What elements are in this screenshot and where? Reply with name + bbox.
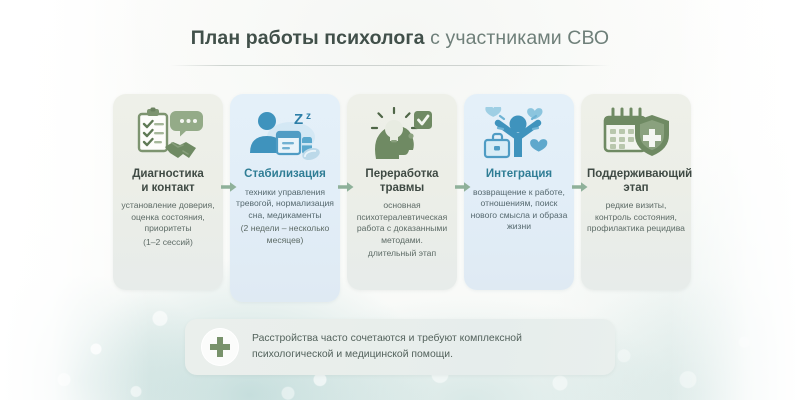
- stage-note: (2 недели – несколько месяцев): [234, 223, 336, 246]
- stage-description: техники управления тревогой, нормализаци…: [234, 187, 336, 222]
- page-title-light: с участниками СВО: [425, 27, 610, 49]
- stage-title: Переработка травмы: [351, 168, 453, 195]
- stage-card-stabilization[interactable]: Z z Стабилизация техники управления трев…: [230, 94, 340, 302]
- stages-row: Диагностика и контакт установление довер…: [113, 94, 689, 302]
- stage-title-line2: и контакт: [141, 182, 194, 194]
- stage-note: длительный этап: [351, 248, 453, 260]
- stage-note: (1–2 сессий): [117, 237, 219, 249]
- arrow-right-icon: [221, 180, 237, 192]
- arrow-right-icon: [455, 180, 471, 192]
- stage-description: основная психотералевтическая работа с д…: [351, 200, 453, 246]
- stage-title-line1: Диагностика: [132, 168, 204, 180]
- person-sleep-medication-icon: Z z: [234, 104, 336, 166]
- arrow-right-icon: [338, 180, 354, 192]
- stage-card-maintenance[interactable]: Поддерживающий этап редкие визиты, контр…: [581, 94, 691, 290]
- stage-description: возвращение к работе, отношениям, поиск …: [468, 187, 570, 233]
- footer-note-text: Расстройства часто сочетаются и требуют …: [252, 331, 522, 363]
- stage-title-line2: травмы: [380, 182, 424, 194]
- stage-title: Диагностика и контакт: [117, 168, 219, 195]
- calendar-shield-plus-icon: [585, 104, 687, 166]
- stage-description: редкие визиты, контроль состояния, профи…: [585, 200, 687, 235]
- stage-title: Поддерживающий этап: [585, 168, 687, 195]
- stage-title: Стабилизация: [234, 168, 336, 182]
- infographic-canvas: План работы психолога с участниками СВО: [0, 0, 800, 400]
- footer-note-banner: Расстройства часто сочетаются и требуют …: [185, 319, 615, 375]
- stage-description: установление доверия, оценка состояния, …: [117, 200, 219, 235]
- footer-note-line2: психологической и медицинской помощи.: [252, 347, 522, 363]
- stage-title-line1: Поддерживающий: [587, 168, 692, 180]
- stage-card-integration[interactable]: Интеграция возвращение к работе, отношен…: [464, 94, 574, 290]
- head-lightbulb-checkmark-icon: [351, 104, 453, 166]
- stage-card-diagnostics[interactable]: Диагностика и контакт установление довер…: [113, 94, 223, 290]
- svg-text:Z: Z: [294, 111, 303, 128]
- medical-cross-icon: [201, 328, 239, 366]
- stage-card-trauma-processing[interactable]: Переработка травмы основная психотералев…: [347, 94, 457, 290]
- stage-title-line2: этап: [623, 182, 648, 194]
- title-divider: [170, 65, 610, 66]
- footer-note-line1: Расстройства часто сочетаются и требуют …: [252, 331, 522, 347]
- person-hearts-briefcase-icon: [468, 104, 570, 166]
- svg-text:z: z: [306, 111, 311, 122]
- stage-title-line1: Переработка: [365, 168, 438, 180]
- page-title: План работы психолога с участниками СВО: [0, 27, 800, 50]
- stage-title: Интеграция: [468, 168, 570, 182]
- page-title-strong: План работы психолога: [191, 27, 425, 49]
- arrow-right-icon: [572, 180, 588, 192]
- clipboard-checklist-handshake-icon: [117, 104, 219, 166]
